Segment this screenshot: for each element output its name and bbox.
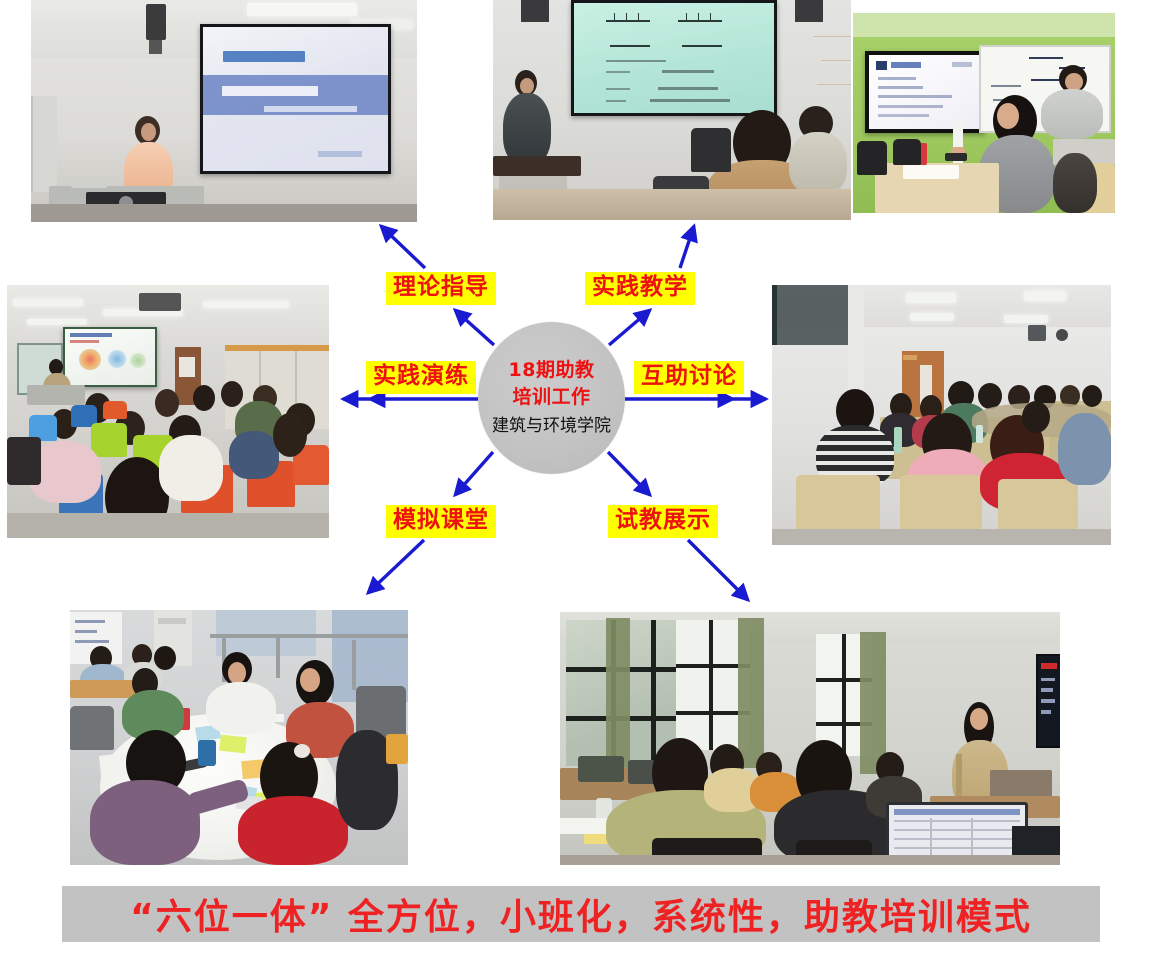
arrow-theory-upper (381, 226, 425, 268)
caption-text: “六位一体” 全方位，小班化，系统性，助教培训模式 (130, 888, 1032, 940)
arrow-theory-lower (455, 310, 494, 345)
caption-bar: “六位一体” 全方位，小班化，系统性，助教培训模式 (62, 886, 1100, 942)
tag-drill[interactable]: 实践演练 (366, 361, 476, 394)
photo-top-right (853, 13, 1115, 213)
tag-theory[interactable]: 理论指导 (386, 272, 496, 305)
tag-simclass[interactable]: 模拟课堂 (386, 505, 496, 538)
infographic-canvas: 18期助教 培训工作 建筑与环境学院 理论指导 实践教学 实践演练 互助讨论 模… (0, 0, 1150, 959)
arrow-practice-lower (609, 310, 650, 345)
hub-circle: 18期助教 培训工作 建筑与环境学院 (478, 322, 625, 474)
arrow-practice-upper (680, 226, 694, 268)
arrow-simclass-lower (368, 540, 424, 593)
tag-demo[interactable]: 试教展示 (608, 505, 718, 538)
hub-line-3: 建筑与环境学院 (492, 414, 611, 440)
arrow-demo-lower (688, 540, 748, 600)
hub-line-1: 18期助教 (509, 357, 595, 384)
photo-top-left (31, 0, 417, 222)
photo-middle-left (7, 285, 329, 538)
photo-top-middle (493, 0, 851, 220)
tag-practice[interactable]: 实践教学 (585, 272, 695, 305)
tag-discussion[interactable]: 互助讨论 (634, 361, 744, 394)
hub-line-2: 培训工作 (512, 384, 590, 411)
photo-bottom-left (70, 610, 408, 865)
arrow-demo-upper (608, 452, 650, 495)
photo-middle-right (772, 285, 1111, 545)
arrow-simclass-upper (455, 452, 493, 495)
photo-bottom-right (560, 612, 1060, 865)
